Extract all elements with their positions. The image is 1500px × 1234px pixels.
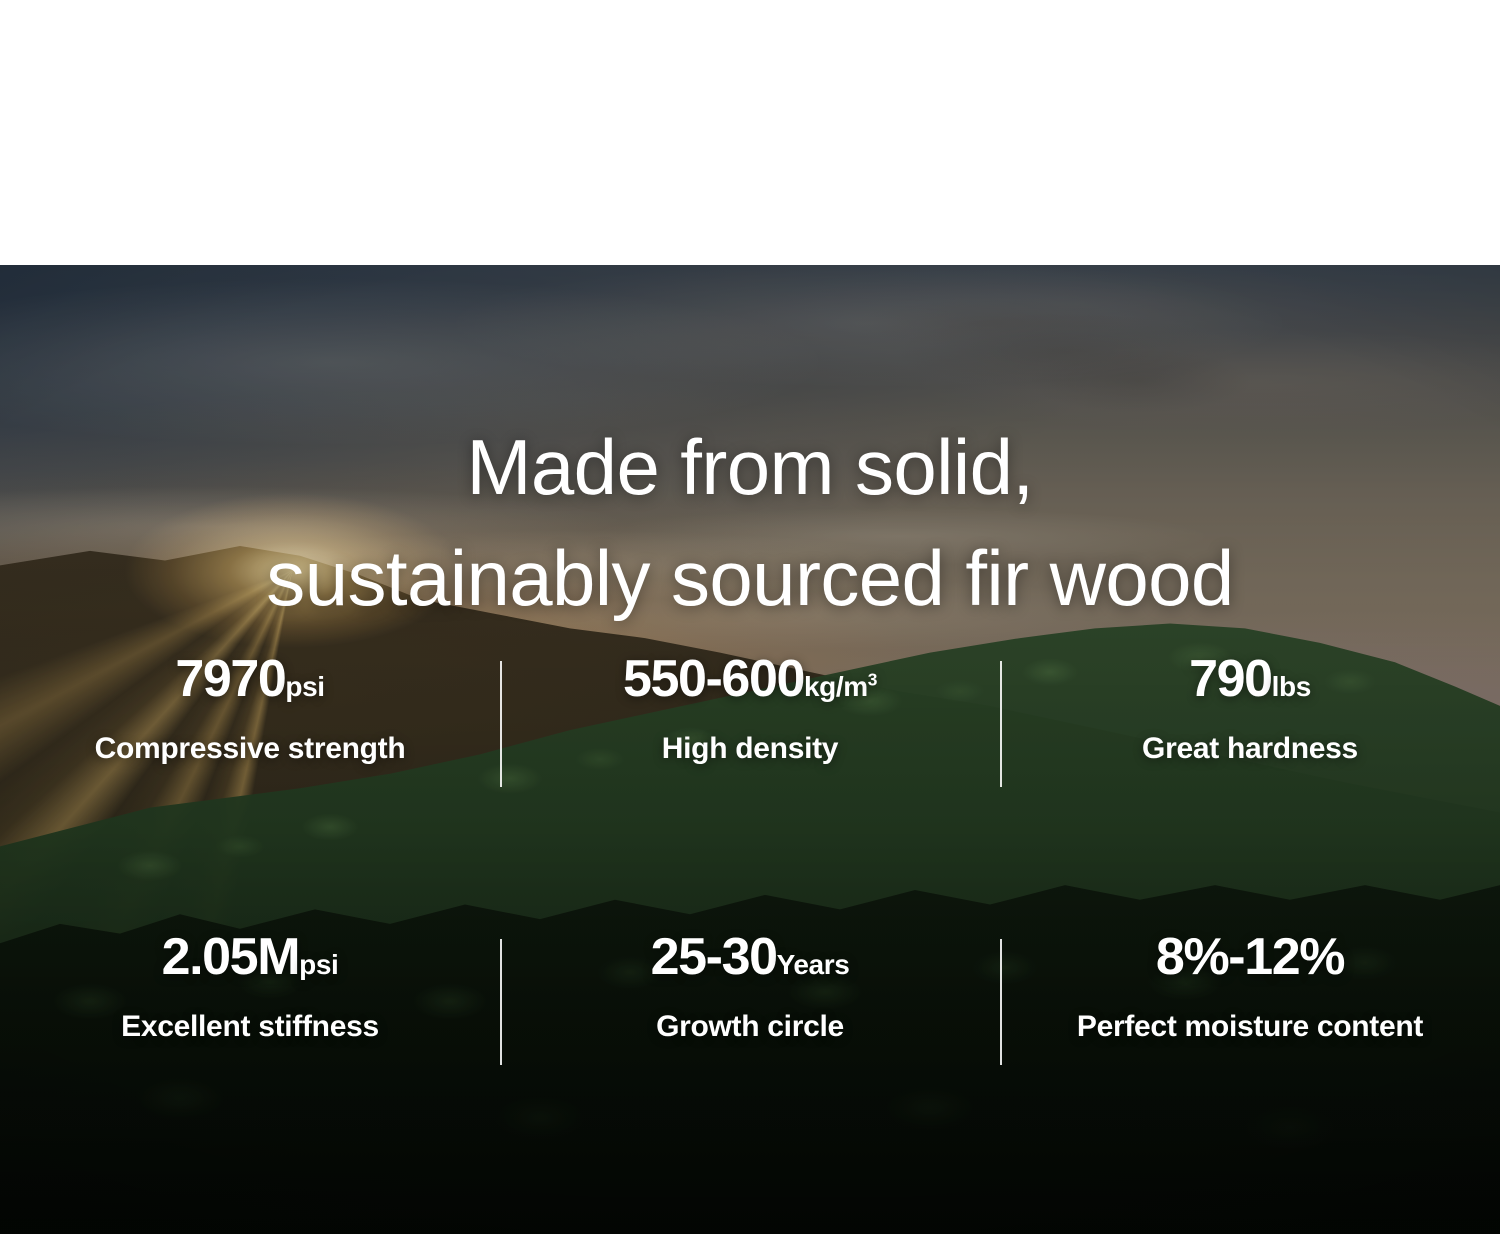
stat-unit: lbs bbox=[1272, 671, 1311, 702]
stat-label: Perfect moisture content bbox=[1010, 1012, 1490, 1042]
stat-unit: kg/m3 bbox=[804, 671, 877, 702]
top-white-spacer bbox=[0, 0, 1500, 265]
stat-label: Great hardness bbox=[1010, 734, 1490, 764]
stat-unit: psi bbox=[285, 671, 324, 702]
stat-number: 7970 bbox=[175, 650, 285, 708]
stat-number: 2.05M bbox=[162, 928, 300, 986]
stat-unit: psi bbox=[299, 949, 338, 980]
stat-number: 550-600 bbox=[623, 650, 804, 708]
stat-label: High density bbox=[510, 734, 990, 764]
product-feature-page: Made from solid, sustainably sourced fir… bbox=[0, 0, 1500, 1234]
stat-number: 790 bbox=[1189, 650, 1272, 708]
stats-row-top: 7970psi Compressive strength 550-600kg/m… bbox=[0, 653, 1500, 764]
stats-row-bottom: 2.05Mpsi Excellent stiffness 25-30Years … bbox=[0, 931, 1500, 1042]
stat-high-density: 550-600kg/m3 High density bbox=[500, 653, 1000, 764]
stat-number: 25-30 bbox=[651, 928, 777, 986]
stat-value: 25-30Years bbox=[510, 931, 990, 983]
stat-value: 7970psi bbox=[10, 653, 490, 705]
stat-unit-exponent: 3 bbox=[868, 670, 877, 690]
stat-value: 550-600kg/m3 bbox=[510, 653, 990, 705]
stat-label: Excellent stiffness bbox=[10, 1012, 490, 1042]
stat-value: 2.05Mpsi bbox=[10, 931, 490, 983]
stat-compressive-strength: 7970psi Compressive strength bbox=[0, 653, 500, 764]
stat-unit: Years bbox=[777, 949, 850, 980]
stat-unit-text: kg/m bbox=[804, 671, 868, 702]
stat-growth-circle: 25-30Years Growth circle bbox=[500, 931, 1000, 1042]
stat-number: 8%-12% bbox=[1156, 928, 1344, 986]
hero-headline: Made from solid, sustainably sourced fir… bbox=[0, 412, 1500, 634]
hero-overlay-content: Made from solid, sustainably sourced fir… bbox=[0, 265, 1500, 1234]
stat-moisture-content: 8%-12% Perfect moisture content bbox=[1000, 931, 1500, 1042]
stat-label: Growth circle bbox=[510, 1012, 990, 1042]
headline-line-2: sustainably sourced fir wood bbox=[0, 523, 1500, 634]
headline-line-1: Made from solid, bbox=[0, 412, 1500, 523]
stat-excellent-stiffness: 2.05Mpsi Excellent stiffness bbox=[0, 931, 500, 1042]
stat-label: Compressive strength bbox=[10, 734, 490, 764]
hero-banner: Made from solid, sustainably sourced fir… bbox=[0, 265, 1500, 1234]
stat-value: 8%-12% bbox=[1010, 931, 1490, 983]
stat-great-hardness: 790lbs Great hardness bbox=[1000, 653, 1500, 764]
stat-value: 790lbs bbox=[1010, 653, 1490, 705]
